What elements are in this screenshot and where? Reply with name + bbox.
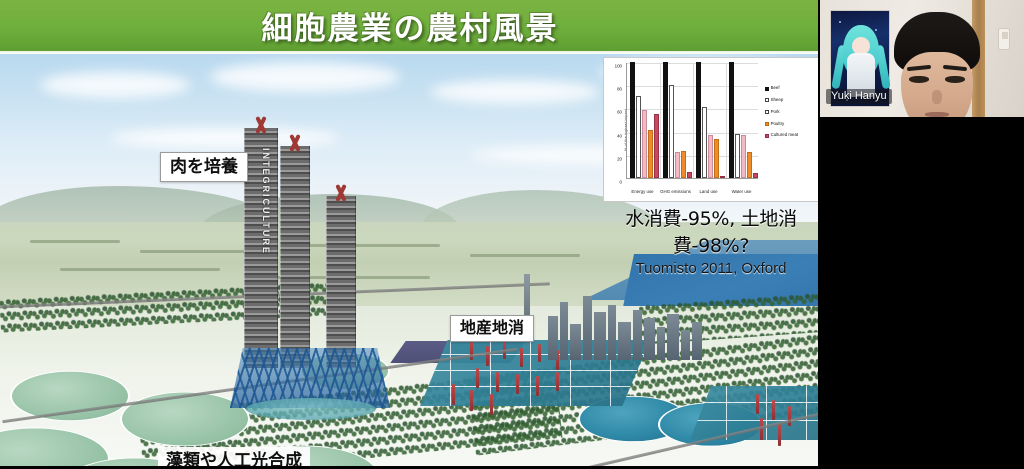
light-switch — [998, 28, 1010, 50]
culture-pin — [476, 368, 479, 388]
chart-y-tick: 0 — [620, 180, 622, 185]
chart-legend-label: Poultry — [771, 122, 785, 127]
cloud — [210, 62, 400, 92]
chart-bar — [687, 172, 692, 178]
culture-pin — [538, 344, 541, 362]
chart-bar — [720, 176, 725, 178]
chart-bar — [708, 135, 713, 178]
caption-main-text: 水消費-95%, 土地消費-98%? — [596, 204, 820, 258]
cloud — [40, 72, 190, 98]
tower: INTEGRICULTURE — [244, 128, 278, 368]
chart-bar — [741, 135, 746, 178]
tower — [326, 196, 356, 368]
slide-title-bar: 細胞農業の農村風景 — [0, 0, 820, 51]
culture-pin — [490, 394, 493, 415]
chart-y-tick: 100 — [615, 64, 622, 69]
chart-x-tick-label: GHG emissions — [660, 189, 691, 194]
culture-pin — [788, 406, 791, 426]
aquaculture-field — [690, 386, 820, 440]
nose — [932, 90, 942, 104]
chimney — [524, 274, 530, 318]
chart-caption: 水消費-95%, 土地消費-98%? Tuomisto 2011, Oxford — [596, 204, 820, 277]
chart-bar-group — [729, 63, 758, 178]
integriculture-towers: INTEGRICULTURE — [230, 112, 390, 422]
chart-bar — [648, 130, 653, 178]
legend-swatch-icon — [765, 98, 769, 102]
cloud — [430, 80, 600, 104]
culture-pin — [486, 346, 489, 366]
chart-group-separator — [693, 63, 694, 178]
impact-bar-chart: % of the highest impact 020406080100 Ene… — [603, 57, 820, 202]
chart-bar — [681, 151, 686, 178]
tower-antenna — [280, 134, 310, 150]
chart-bar — [663, 62, 668, 178]
chart-bar — [747, 152, 752, 178]
chart-x-tick-label: Energy use — [631, 189, 653, 194]
chart-legend-item: Sheep — [765, 98, 817, 103]
tower — [280, 146, 310, 368]
field-speck — [30, 240, 120, 243]
culture-pin — [520, 348, 523, 367]
chart-bar — [729, 62, 734, 178]
culture-pin — [470, 390, 473, 411]
chart-y-axis-ticks: 020406080100 — [609, 62, 623, 178]
eyebrow-right — [943, 65, 967, 71]
chart-bar — [675, 152, 680, 178]
legend-swatch-icon — [765, 110, 769, 114]
chart-bar — [654, 114, 659, 178]
chart-bar — [753, 173, 758, 178]
tower-antenna — [246, 116, 276, 132]
eye-left — [909, 76, 929, 83]
caption-source-text: Tuomisto 2011, Oxford — [596, 260, 820, 277]
chart-bar — [669, 85, 674, 178]
field-speck — [470, 254, 580, 257]
chart-bar-group — [630, 63, 659, 178]
chart-y-tick: 60 — [617, 110, 622, 115]
legend-swatch-icon — [765, 122, 769, 126]
chart-x-tick-label: Land use — [699, 189, 717, 194]
chart-bar-group — [663, 63, 692, 178]
chart-legend-label: Cultured meat — [771, 133, 799, 138]
eyebrow-left — [907, 65, 931, 71]
chart-bar — [735, 134, 740, 178]
chart-bar — [696, 62, 701, 178]
chart-bar — [636, 96, 641, 178]
chart-legend-label: Pork — [771, 110, 780, 115]
chart-x-axis-labels: Energy useGHG emissionsLand useWater use — [626, 189, 761, 199]
empty-panel-area — [820, 117, 1024, 469]
culture-pin — [536, 376, 539, 396]
chart-legend-item: Poultry — [765, 122, 817, 127]
chart-bar-group — [696, 63, 725, 178]
chart-group-separator — [726, 63, 727, 178]
tower-base-pond — [246, 398, 376, 420]
chart-x-tick-label: Water use — [732, 189, 752, 194]
chart-y-tick: 80 — [617, 87, 622, 92]
chart-legend-item: Beef — [765, 86, 817, 91]
chart-group-separator — [660, 63, 661, 178]
chart-bar — [642, 110, 647, 178]
field-speck — [60, 268, 220, 271]
chart-legend-label: Beef — [771, 86, 780, 91]
culture-pin — [778, 424, 781, 446]
eye-right — [945, 76, 965, 83]
chart-legend-item: Pork — [765, 110, 817, 115]
city-skyline — [548, 290, 708, 360]
webcam-tile[interactable]: Yuki Hanyu — [820, 0, 1024, 117]
tower-antenna — [326, 184, 356, 200]
chart-bar — [714, 139, 719, 178]
chart-y-tick: 20 — [617, 156, 622, 161]
chart-legend-label: Sheep — [771, 98, 784, 103]
screen-root: 細胞農業の農村風景 — [0, 0, 1024, 469]
chart-bar — [702, 107, 707, 178]
culture-pin — [496, 372, 499, 392]
face — [901, 52, 973, 117]
culture-pin — [772, 400, 775, 420]
callout-local-production: 地産地消 — [450, 315, 534, 342]
chart-bars — [626, 63, 758, 179]
culture-pin — [516, 374, 519, 394]
tower-label: INTEGRICULTURE — [261, 148, 271, 255]
culture-pin — [452, 384, 455, 405]
legend-swatch-icon — [765, 134, 769, 138]
culture-pin — [756, 394, 759, 414]
callout-cultured-meat: 肉を培養 — [160, 152, 248, 182]
culture-pin — [556, 372, 559, 391]
page-title: 細胞農業の農村風景 — [262, 3, 559, 48]
participant-head — [894, 12, 980, 117]
chart-bar — [630, 62, 635, 178]
legend-swatch-icon — [765, 87, 769, 91]
chart-legend: BeefSheepPorkPoultryCultured meat — [763, 58, 819, 201]
chart-legend-item: Cultured meat — [765, 133, 817, 138]
shared-slide: 細胞農業の農村風景 — [0, 0, 820, 469]
participant-name-label: Yuki Hanyu — [826, 89, 892, 104]
chart-y-tick: 40 — [617, 133, 622, 138]
chart-plot-area: % of the highest impact 020406080100 Ene… — [604, 58, 763, 201]
